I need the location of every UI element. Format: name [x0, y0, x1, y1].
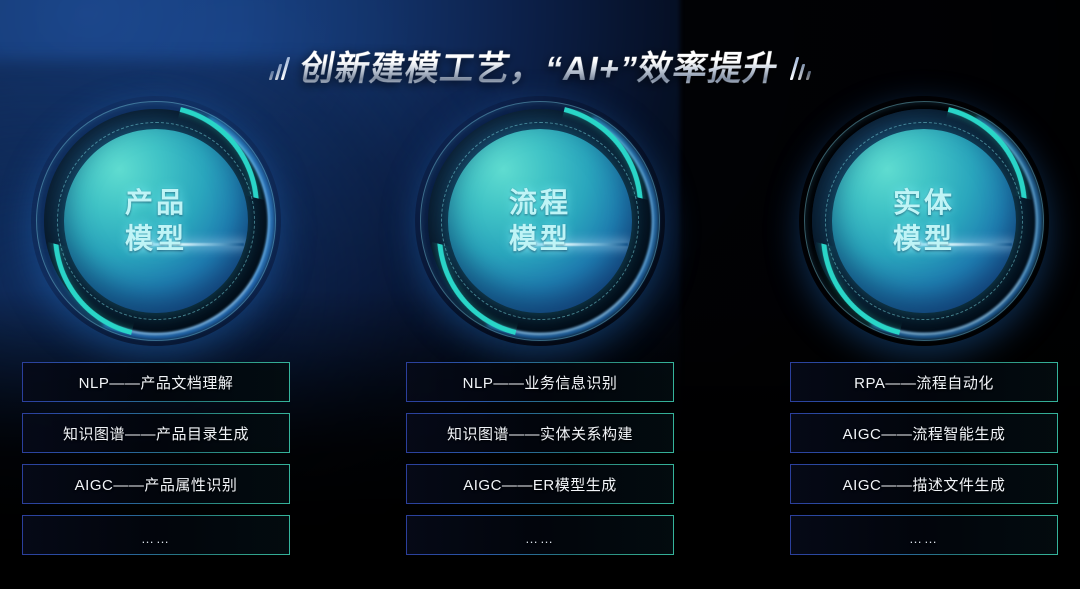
tick-small-icon	[806, 71, 812, 80]
orb-inner-disc: 产品 模型	[64, 129, 248, 313]
item-list-process-model: NLP——业务信息识别 知识图谱——实体关系构建 AIGC——ER模型生成 ……	[406, 362, 674, 555]
title-row: 创新建模工艺，“AI+”效率提升	[0, 34, 1080, 96]
list-item[interactable]: 知识图谱——产品目录生成	[22, 413, 290, 453]
list-item-label: NLP——业务信息识别	[463, 372, 618, 393]
orb-inner-disc: 实体 模型	[832, 129, 1016, 313]
list-item-label: AIGC——ER模型生成	[463, 474, 617, 495]
tick-marks-left-icon	[270, 50, 287, 80]
orb-label-line1: 产品	[125, 185, 187, 221]
list-item[interactable]: AIGC——描述文件生成	[790, 464, 1058, 504]
column-product-model: 产品 模型 NLP——产品文档理解 知识图谱——产品目录生成 AIGC——产品属…	[22, 96, 290, 566]
orb-label-line2: 模型	[893, 221, 955, 257]
list-item-label: 知识图谱——产品目录生成	[63, 423, 249, 444]
columns-container: 产品 模型 NLP——产品文档理解 知识图谱——产品目录生成 AIGC——产品属…	[0, 96, 1080, 566]
list-item-label: AIGC——描述文件生成	[843, 474, 1006, 495]
list-item[interactable]: AIGC——ER模型生成	[406, 464, 674, 504]
orb-product-model[interactable]: 产品 模型	[31, 96, 281, 346]
orb-label-line2: 模型	[509, 221, 571, 257]
column-entity-model: 实体 模型 RPA——流程自动化 AIGC——流程智能生成 AIGC——描述文件…	[790, 96, 1058, 566]
list-item[interactable]: RPA——流程自动化	[790, 362, 1058, 402]
orb-entity-model[interactable]: 实体 模型	[799, 96, 1049, 346]
tick-small-icon	[269, 71, 275, 80]
list-item-more[interactable]: ……	[790, 515, 1058, 555]
list-item[interactable]: NLP——业务信息识别	[406, 362, 674, 402]
list-item-label: RPA——流程自动化	[854, 372, 994, 393]
list-item-more[interactable]: ……	[406, 515, 674, 555]
slide-stage: 创新建模工艺，“AI+”效率提升 产品 模型	[0, 0, 1080, 589]
list-item-label: AIGC——流程智能生成	[843, 423, 1006, 444]
list-item[interactable]: NLP——产品文档理解	[22, 362, 290, 402]
tick-marks-right-icon	[793, 50, 810, 80]
list-item-more[interactable]: ……	[22, 515, 290, 555]
list-item-label: AIGC——产品属性识别	[75, 474, 238, 495]
tick-large-icon	[281, 57, 291, 80]
page-title: 创新建模工艺，“AI+”效率提升	[297, 41, 783, 90]
list-item[interactable]: AIGC——产品属性识别	[22, 464, 290, 504]
orb-label-line1: 流程	[509, 185, 571, 221]
list-item-label: ……	[909, 531, 939, 546]
list-item-label: 知识图谱——实体关系构建	[447, 423, 633, 444]
column-process-model: 流程 模型 NLP——业务信息识别 知识图谱——实体关系构建 AIGC——ER模…	[406, 96, 674, 566]
list-item[interactable]: 知识图谱——实体关系构建	[406, 413, 674, 453]
tick-medium-icon	[798, 64, 806, 80]
item-list-product-model: NLP——产品文档理解 知识图谱——产品目录生成 AIGC——产品属性识别 ……	[22, 362, 290, 555]
orb-label-line1: 实体	[893, 185, 955, 221]
list-item-label: ……	[141, 531, 171, 546]
orb-label-line2: 模型	[125, 221, 187, 257]
orb-inner-disc: 流程 模型	[448, 129, 632, 313]
list-item-label: ……	[525, 531, 555, 546]
item-list-entity-model: RPA——流程自动化 AIGC——流程智能生成 AIGC——描述文件生成 ……	[790, 362, 1058, 555]
orb-process-model[interactable]: 流程 模型	[415, 96, 665, 346]
list-item[interactable]: AIGC——流程智能生成	[790, 413, 1058, 453]
list-item-label: NLP——产品文档理解	[79, 372, 234, 393]
